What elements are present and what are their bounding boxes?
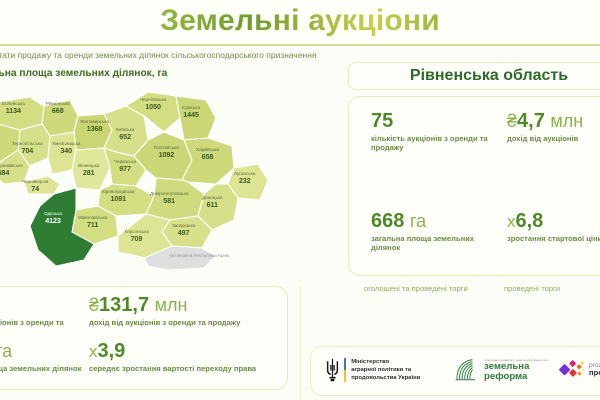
legend-announced-and-held: оголошені та проведені торги	[364, 284, 468, 293]
land-reform-text: програма розвитку земельних відносин зем…	[484, 358, 548, 382]
logo-prozorro: prozorro. продажі	[559, 359, 600, 381]
logo-land-reform: програма розвитку земельних відносин зем…	[453, 357, 548, 383]
page-title: Земельні аукціони	[0, 4, 600, 38]
infographic-root: Земельні аукціони Результати продажу та …	[0, 0, 600, 400]
total-income-value: ₴131,7 млн	[89, 295, 285, 316]
prozorro-mark-icon	[559, 359, 585, 381]
total-price-growth: х3,9 середнє зростання вартості переходу…	[89, 341, 285, 373]
region-chernivtsi	[24, 176, 60, 194]
prozorro-text: prozorro. продажі	[589, 362, 600, 378]
region-stats-panel: 75 кількість аукціонів з оренди та прода…	[348, 96, 600, 276]
region-dnipro	[146, 178, 204, 220]
region-income: ₴4,7 млн дохід від аукціонів	[507, 111, 600, 143]
ministry-line-1: Міністерство	[351, 358, 420, 366]
ministry-name: Міністерство аграрної політики та продов…	[351, 358, 420, 383]
hryvnia-icon: ₴	[507, 111, 517, 131]
trident-icon	[325, 357, 340, 383]
ministry-line-3: продовольства України	[351, 374, 420, 382]
ukraine-map-svg	[0, 80, 278, 270]
region-auctions-value: 75	[371, 111, 503, 132]
region-name-pill[interactable]: Рівненська область	[348, 62, 600, 90]
hryvnia-icon: ₴	[89, 295, 99, 315]
region-auctions-caption: кількість аукціонів з оренди та продажу	[371, 134, 503, 153]
logo-ministry: Міністерство аграрної політики та продов…	[325, 357, 420, 383]
total-area-caption: загальна площа земельних ділянок	[0, 364, 97, 373]
ministry-line-2: аграрної політики та	[351, 366, 420, 374]
total-income-caption: дохід від аукціонів з оренди та продажу	[89, 318, 285, 327]
total-growth-value: х3,9	[89, 341, 285, 362]
region-income-value: ₴4,7 млн	[507, 111, 600, 132]
region-area: 668 га загальна площа земельних ділянок	[371, 211, 503, 253]
total-area: 1188 га загальна площа земельних ділянок	[0, 341, 97, 373]
region-growth-value: х6,8	[507, 211, 600, 232]
land-reform-line-2: реформа	[484, 372, 548, 382]
total-auctions-value: 2028	[0, 295, 97, 316]
region-vinnytsia	[72, 148, 110, 190]
footer-logo-bar: Міністерство аграрної політики та продов…	[310, 346, 600, 396]
total-auctions-count: 2028 кількість аукціонів з оренди та про…	[0, 295, 97, 337]
totals-panel: 2028 кількість аукціонів з оренди та про…	[0, 286, 288, 390]
flag-bar	[344, 358, 346, 382]
legend-held: проведені торги	[504, 284, 560, 293]
region-auctions-count: 75 кількість аукціонів з оренди та прода…	[371, 111, 503, 153]
total-auctions-caption: кількість аукціонів з оренди та продажу	[0, 318, 97, 337]
page-subtitle: Результати продажу та оренди земельних д…	[0, 50, 372, 60]
region-name-label: Рівненська область	[410, 67, 568, 85]
region-rivne	[42, 100, 78, 136]
map-caption: Загальна площа земельних ділянок, га	[0, 68, 167, 79]
total-growth-caption: середнє зростання вартості переходу прав…	[89, 364, 285, 373]
region-income-caption: дохід від аукціонів	[507, 134, 600, 143]
region-growth-caption: зростання стартової ціни	[507, 234, 600, 243]
region-price-growth: х6,8 зростання стартової ціни	[507, 211, 600, 243]
header: Земельні аукціони	[0, 0, 600, 44]
region-sumy	[176, 96, 216, 140]
total-area-value: 1188 га	[0, 341, 97, 362]
land-reform-mark-icon	[453, 357, 479, 383]
region-area-value: 668 га	[371, 211, 503, 232]
footer-divider	[300, 286, 301, 400]
ukraine-map: Волинська1134 Рівненська668 Житомирська1…	[0, 80, 278, 270]
region-khmelnytskyi	[48, 132, 76, 174]
prozorro-line-2: продажі	[589, 369, 600, 378]
total-income: ₴131,7 млн дохід від аукціонів з оренди …	[89, 295, 285, 327]
region-area-caption: загальна площа земельних ділянок	[371, 234, 503, 253]
header-divider	[0, 44, 600, 46]
